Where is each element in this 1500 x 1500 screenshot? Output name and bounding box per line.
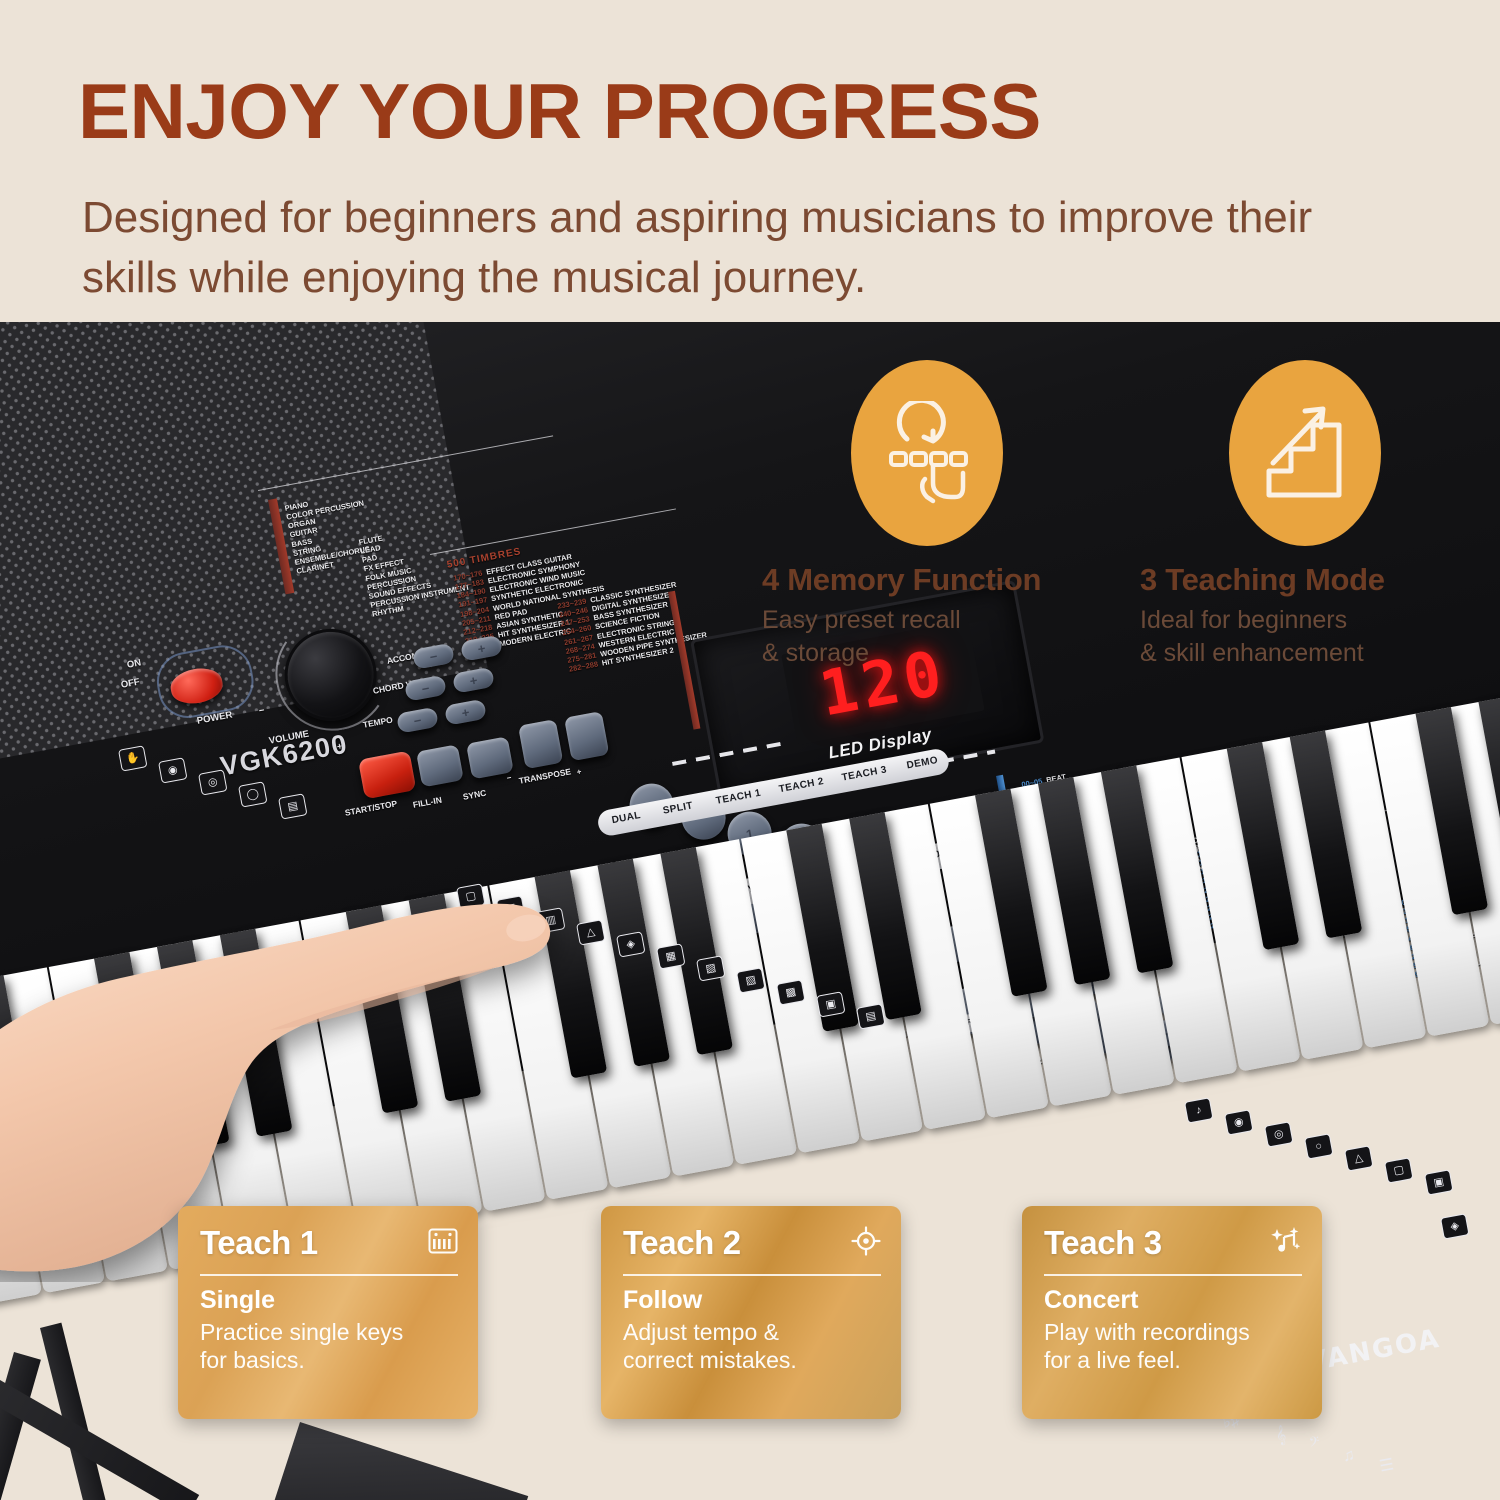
teach-card-desc-line1: Adjust tempo &: [623, 1318, 881, 1347]
card-divider: [200, 1274, 458, 1276]
feature-teaching-mode: 3 Teaching Mode Ideal for beginners & sk…: [1140, 360, 1470, 669]
hand-pointing: [0, 762, 690, 1282]
bass-clef-icon: 𝄢: [1300, 1431, 1330, 1457]
teach-card-2[interactable]: Teach 2 Follow Adjust tempo & correct mi…: [601, 1206, 901, 1419]
feature-desc-line2: & storage: [762, 637, 1092, 670]
percussion-timbale-l-icon: ▣: [816, 991, 846, 1017]
feature-title: 3 Teaching Mode: [1140, 562, 1470, 598]
target-crosshair-icon: [851, 1226, 881, 1260]
beamed-notes-icon: ♫: [1334, 1443, 1364, 1469]
feature-desc-line1: Easy preset recall: [762, 604, 1092, 637]
percussion-maracas-icon: ♪: [1184, 1097, 1214, 1123]
page-subtitle: Designed for beginners and aspiring musi…: [82, 188, 1342, 308]
treble-clef-icon: 𝄞: [1266, 1421, 1296, 1447]
teach-card-title: Teach 3: [1044, 1224, 1162, 1262]
stairs-progress-icon: [1229, 360, 1381, 546]
teach-card-title: Teach 2: [623, 1224, 741, 1262]
teach-2-label: TEACH 2: [778, 776, 825, 795]
percussion-tambourine-icon: ◎: [1264, 1121, 1294, 1147]
teach-card-mode: Concert: [1044, 1287, 1302, 1315]
percussion-cowbell-icon: ▨: [736, 967, 766, 993]
percussion-claves-icon: ◉: [1224, 1109, 1254, 1135]
card-divider: [623, 1274, 881, 1276]
teach-card-desc-line2: correct mistakes.: [623, 1346, 881, 1375]
teach-card-mode: Follow: [623, 1287, 881, 1315]
teach-card-desc-line1: Practice single keys: [200, 1318, 458, 1347]
teach-card-desc-line2: for a live feel.: [1044, 1346, 1302, 1375]
page-title: ENJOY YOUR PROGRESS: [78, 72, 1041, 152]
percussion-guiro-icon: ▤: [856, 1003, 886, 1029]
feature-title: 4 Memory Function: [762, 562, 1092, 598]
teach-3-label: TEACH 3: [841, 764, 888, 783]
volume-minus-label: −: [258, 705, 265, 717]
feature-desc-line2: & skill enhancement: [1140, 637, 1470, 670]
memory-recall-icon: [851, 360, 1003, 546]
teach-card-mode: Single: [200, 1287, 458, 1315]
teach-card-1[interactable]: Teach 1 Single Practice single keys for …: [178, 1206, 478, 1419]
teach-card-desc-line1: Play with recordings: [1044, 1318, 1302, 1347]
demo-label: DEMO: [906, 755, 939, 772]
card-divider: [1044, 1274, 1302, 1276]
staff-icon: ☰: [1372, 1453, 1402, 1479]
teach-card-desc-line2: for basics.: [200, 1346, 458, 1375]
teach-card-3[interactable]: Teach 3 Concert Play with recordings for…: [1022, 1206, 1322, 1419]
percussion-agogo-l-icon: ▣: [1424, 1169, 1454, 1195]
transpose-plus-button[interactable]: [564, 711, 609, 761]
product-marketing-image: ENJOY YOUR PROGRESS Designed for beginne…: [0, 0, 1500, 1500]
percussion-whistle-icon: △: [1344, 1145, 1374, 1171]
percussion-timbale-h-icon: ▩: [776, 979, 806, 1005]
teach-1-label: TEACH 1: [715, 788, 762, 807]
percussion-agogo-h-icon: ▢: [1384, 1157, 1414, 1183]
keyboard-icon: [428, 1228, 458, 1258]
feature-desc-line1: Ideal for beginners: [1140, 604, 1470, 637]
teach-card-title: Teach 1: [200, 1224, 318, 1262]
sparkle-notes-icon: [1270, 1226, 1302, 1260]
percussion-scratch-s-icon: ◈: [1440, 1213, 1470, 1239]
percussion-bell-icon: ○: [1304, 1133, 1334, 1159]
percussion-clap-icon: ▧: [696, 955, 726, 981]
feature-memory-function: 4 Memory Function Easy preset recall & s…: [762, 360, 1092, 669]
